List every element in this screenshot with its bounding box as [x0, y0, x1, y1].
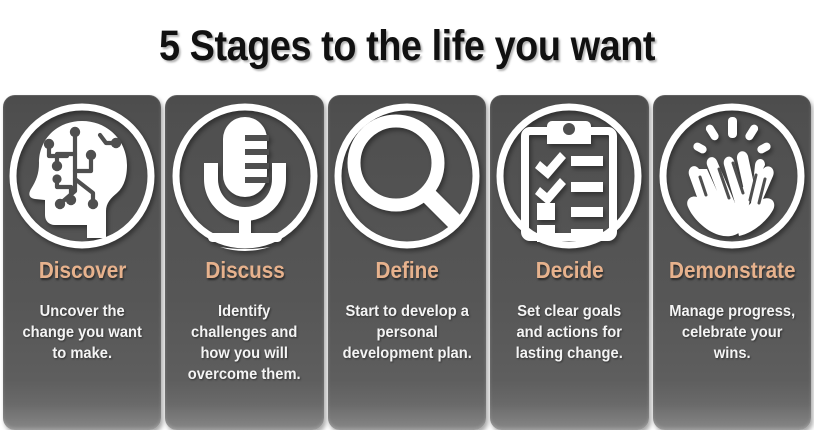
stage-heading: Discover: [38, 257, 125, 284]
stage-card-discuss[interactable]: Discuss Identify challenges and how you …: [165, 95, 323, 430]
stage-body: Manage progress, celebrate your wins.: [659, 301, 805, 364]
stage-card-define[interactable]: Define Start to develop a personal devel…: [328, 95, 486, 430]
magnifying-glass-icon: [330, 99, 484, 253]
stage-heading: Demonstrate: [669, 257, 796, 284]
stage-body: Uncover the change you want to make.: [9, 301, 155, 364]
clipboard-checklist-icon: [492, 99, 646, 253]
stage-body: Start to develop a personal development …: [334, 301, 480, 364]
head-circuit-icon: [5, 99, 159, 253]
stage-card-demonstrate[interactable]: Demonstrate Manage progress, celebrate y…: [653, 95, 811, 430]
stage-body: Identify challenges and how you will ove…: [172, 301, 318, 385]
stage-card-list: Discover Uncover the change you want to …: [0, 95, 814, 430]
page-title: 5 Stages to the life you want: [49, 22, 765, 71]
clapping-hands-icon: [655, 99, 809, 253]
stage-heading: Define: [375, 257, 438, 284]
stage-card-decide[interactable]: Decide Set clear goals and actions for l…: [490, 95, 648, 430]
stage-card-discover[interactable]: Discover Uncover the change you want to …: [3, 95, 161, 430]
infographic-root: 5 Stages to the life you want: [0, 0, 814, 430]
stage-body: Set clear goals and actions for lasting …: [497, 301, 643, 364]
stage-heading: Decide: [535, 257, 603, 284]
microphone-icon: [168, 99, 322, 253]
stage-heading: Discuss: [205, 257, 284, 284]
